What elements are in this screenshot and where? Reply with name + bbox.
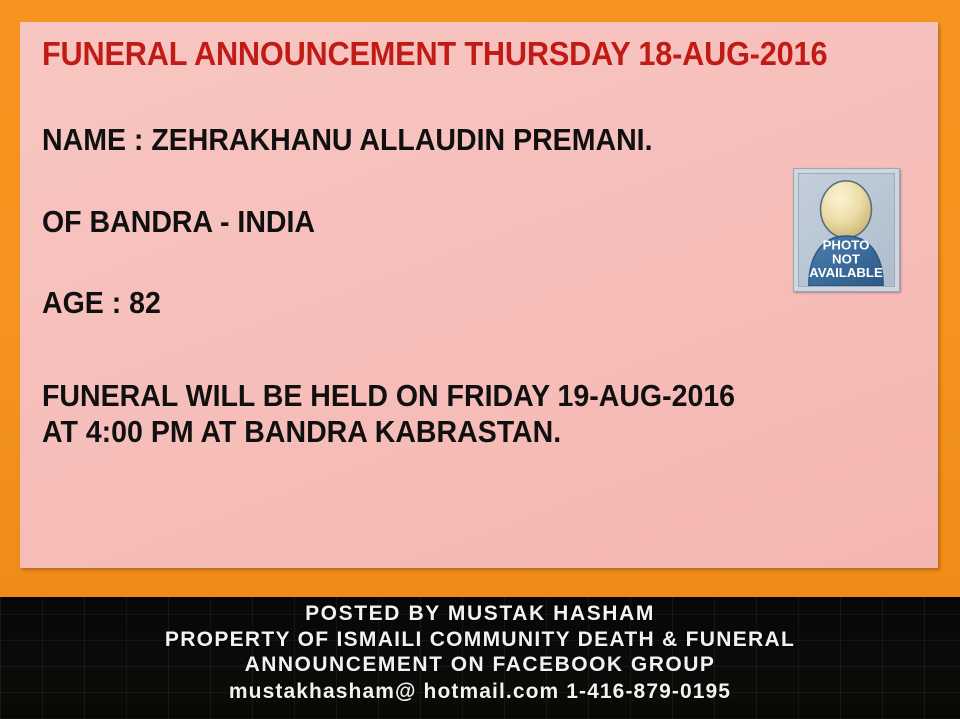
service-detail-line-2: AT 4:00 PM AT BANDRA KABRASTAN. [42,414,846,449]
footer-contact-line: mustakhasham@ hotmail.com 1-416-879-0195 [0,678,960,705]
deceased-age-line: AGE : 82 [42,285,846,320]
service-detail-line-1: FUNERAL WILL BE HELD ON FRIDAY 19-AUG-20… [42,378,846,413]
spacer [42,78,916,122]
photo-badge-line-2: NOT [832,251,860,266]
spacer [42,320,916,378]
photo-badge-line-3: AVAILABLE [809,265,883,280]
footer-property-line: PROPERTY OF ISMAILI COMMUNITY DEATH & FU… [0,627,960,653]
photo-badge-line-1: PHOTO [823,238,870,253]
footer-posted-by-line: POSTED BY MUSTAK HASHAM [0,601,960,627]
photo-not-available-icon: PHOTO NOT AVAILABLE [799,174,894,286]
spacer [42,158,916,204]
spacer [42,239,916,285]
announcement-headline: FUNERAL ANNOUNCEMENT THURSDAY 18-AUG-201… [42,36,855,72]
funeral-announcement-poster: FUNERAL ANNOUNCEMENT THURSDAY 18-AUG-201… [0,0,960,719]
deceased-place-line: OF BANDRA - INDIA [42,204,846,239]
deceased-name-line: NAME : ZEHRAKHANU ALLAUDIN PREMANI. [42,122,846,157]
photo-not-available-frame: PHOTO NOT AVAILABLE [798,173,895,287]
footer-text-block: POSTED BY MUSTAK HASHAM PROPERTY OF ISMA… [0,597,960,705]
photo-not-available-badge: PHOTO NOT AVAILABLE [793,168,900,292]
footer-credit-bar: POSTED BY MUSTAK HASHAM PROPERTY OF ISMA… [0,597,960,719]
footer-group-line: ANNOUNCEMENT ON FACEBOOK GROUP [0,652,960,678]
announcement-card: FUNERAL ANNOUNCEMENT THURSDAY 18-AUG-201… [20,22,938,568]
